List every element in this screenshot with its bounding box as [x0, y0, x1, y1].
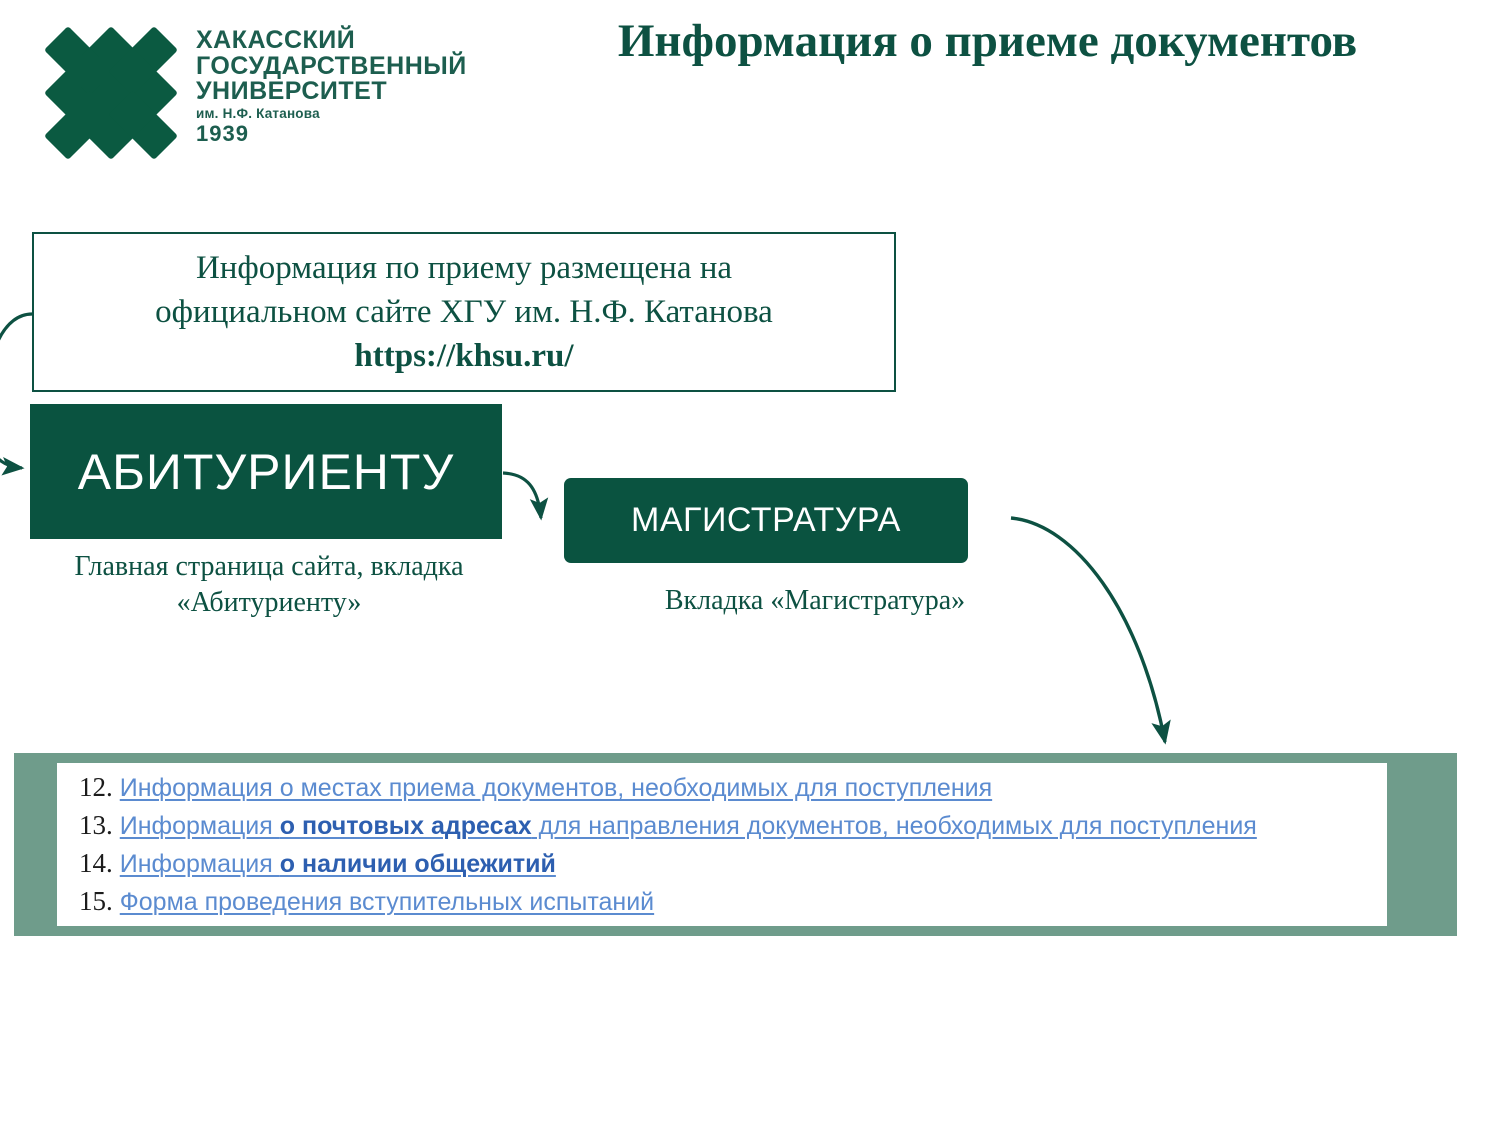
link-number: 15. — [79, 886, 113, 917]
link-label-strong: о наличии общежитий — [280, 850, 556, 878]
link-row[interactable]: 13.Информация о почтовых адресах для нап… — [57, 810, 1387, 848]
university-logo: ХАКАССКИЙ ГОСУДАРСТВЕННЫЙ УНИВЕРСИТЕТ им… — [44, 26, 474, 166]
link-label-plain: Информация о местах приема документов, н… — [120, 774, 992, 802]
logo-line-1: ХАКАССКИЙ — [196, 28, 476, 54]
logo-wordmark: ХАКАССКИЙ ГОСУДАРСТВЕННЫЙ УНИВЕРСИТЕТ им… — [196, 28, 476, 146]
arrow-infobox-to-abiturientu — [0, 314, 32, 468]
link-label-plain: Информация — [120, 850, 280, 878]
link-row[interactable]: 14.Информация о наличии общежитий — [57, 848, 1387, 886]
logo-founded-year: 1939 — [196, 123, 476, 145]
magistratura-caption: Вкладка «Магистратура» — [620, 583, 1010, 619]
magistratura-button[interactable]: МАГИСТРАТУРА — [564, 478, 968, 563]
link-label-plain: Форма проведения вступительных испытаний — [120, 888, 654, 916]
link-row[interactable]: 15.Форма проведения вступительных испыта… — [57, 886, 1387, 924]
logo-line-4: им. Н.Ф. Катанова — [196, 107, 476, 121]
magistratura-button-label: МАГИСТРАТУРА — [631, 501, 901, 540]
info-line-2: официальном сайте ХГУ им. Н.Ф. Катанова — [155, 290, 773, 334]
page-title: Информация о приеме документов — [500, 16, 1475, 68]
link-label[interactable]: Информация о наличии общежитий — [120, 850, 556, 879]
link-number: 12. — [79, 772, 113, 803]
link-number: 13. — [79, 810, 113, 841]
diamond-grid-logo-icon — [44, 26, 184, 166]
link-label[interactable]: Форма проведения вступительных испытаний — [120, 888, 654, 917]
abiturientu-button[interactable]: АБИТУРИЕНТУ — [30, 404, 502, 539]
link-label[interactable]: Информация о местах приема документов, н… — [120, 774, 992, 803]
link-row[interactable]: 12.Информация о местах приема документов… — [57, 772, 1387, 810]
logo-line-3: УНИВЕРСИТЕТ — [196, 79, 476, 105]
link-number: 14. — [79, 848, 113, 879]
link-label-plain: для направления документов, необходимых … — [532, 812, 1257, 840]
abiturientu-button-label: АБИТУРИЕНТУ — [78, 443, 454, 501]
link-label-plain: Информация — [120, 812, 280, 840]
abiturientu-caption: Главная страница сайта, вкладка «Абитури… — [44, 549, 494, 622]
info-line-1: Информация по приему размещена на — [196, 246, 732, 290]
arrow-abiturientu-to-magistratura — [503, 473, 541, 518]
link-label[interactable]: Информация о почтовых адресах для направ… — [120, 812, 1257, 841]
links-panel: 12.Информация о местах приема документов… — [14, 753, 1457, 936]
info-callout-box: Информация по приему размещена на официа… — [32, 232, 896, 392]
arrow-magistratura-to-links — [1011, 518, 1165, 742]
links-list: 12.Информация о местах приема документов… — [57, 763, 1387, 926]
logo-line-2: ГОСУДАРСТВЕННЫЙ — [196, 54, 476, 80]
site-url[interactable]: https://khsu.ru/ — [354, 334, 573, 378]
link-label-strong: о почтовых адресах — [280, 812, 532, 840]
